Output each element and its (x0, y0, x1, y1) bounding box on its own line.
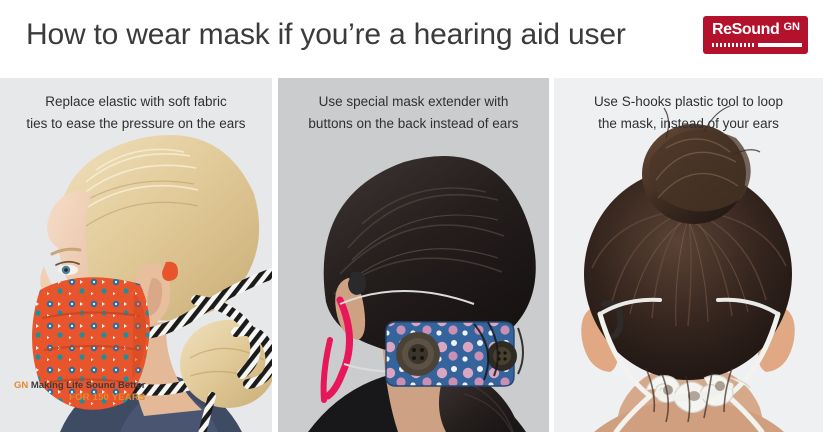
gn-tagline: GN Making Life Sound Better FOR 150 YEAR… (14, 380, 145, 404)
panel-1-caption-line-1: Replace elastic with soft fabric (6, 91, 266, 113)
gn-tagline-line-1: GN Making Life Sound Better (14, 380, 145, 392)
panel-3-caption-line-1: Use S-hooks plastic tool to loop (560, 91, 817, 113)
resound-logo: ReSound GN (703, 16, 808, 54)
infographic-root: How to wear mask if you’re a hearing aid… (0, 0, 823, 432)
gn-brand-mark: GN (14, 380, 28, 391)
header-bar: How to wear mask if you’re a hearing aid… (0, 0, 823, 78)
panel-s-hooks: Use S-hooks plastic tool to loop the mas… (554, 78, 823, 432)
logo-gn-mark: GN (784, 21, 801, 34)
page-title: How to wear mask if you’re a hearing aid… (26, 18, 626, 52)
panel-2-caption-line-1: Use special mask extender with (284, 91, 543, 113)
panel-mask-extender: Use special mask extender with buttons o… (278, 78, 549, 432)
panel-row: Replace elastic with soft fabric ties to… (0, 78, 823, 432)
logo-wordmark: ReSound (712, 20, 779, 39)
gn-tagline-text: Making Life Sound Better (31, 380, 146, 391)
panel-3-caption-line-2: the mask, instead of your ears (560, 113, 817, 135)
logo-soundwave-icon (712, 42, 802, 47)
panel-replace-elastic: Replace elastic with soft fabric ties to… (0, 78, 272, 432)
panel-1-caption-line-2: ties to ease the pressure on the ears (6, 113, 266, 135)
panel-2-caption-line-2: buttons on the back instead of ears (284, 113, 543, 135)
panel-2-caption: Use special mask extender with buttons o… (284, 91, 543, 135)
panel-3-caption: Use S-hooks plastic tool to loop the mas… (560, 91, 817, 135)
panel-1-caption: Replace elastic with soft fabric ties to… (6, 91, 266, 135)
gn-tagline-line-2: FOR 150 YEARS (14, 392, 145, 404)
